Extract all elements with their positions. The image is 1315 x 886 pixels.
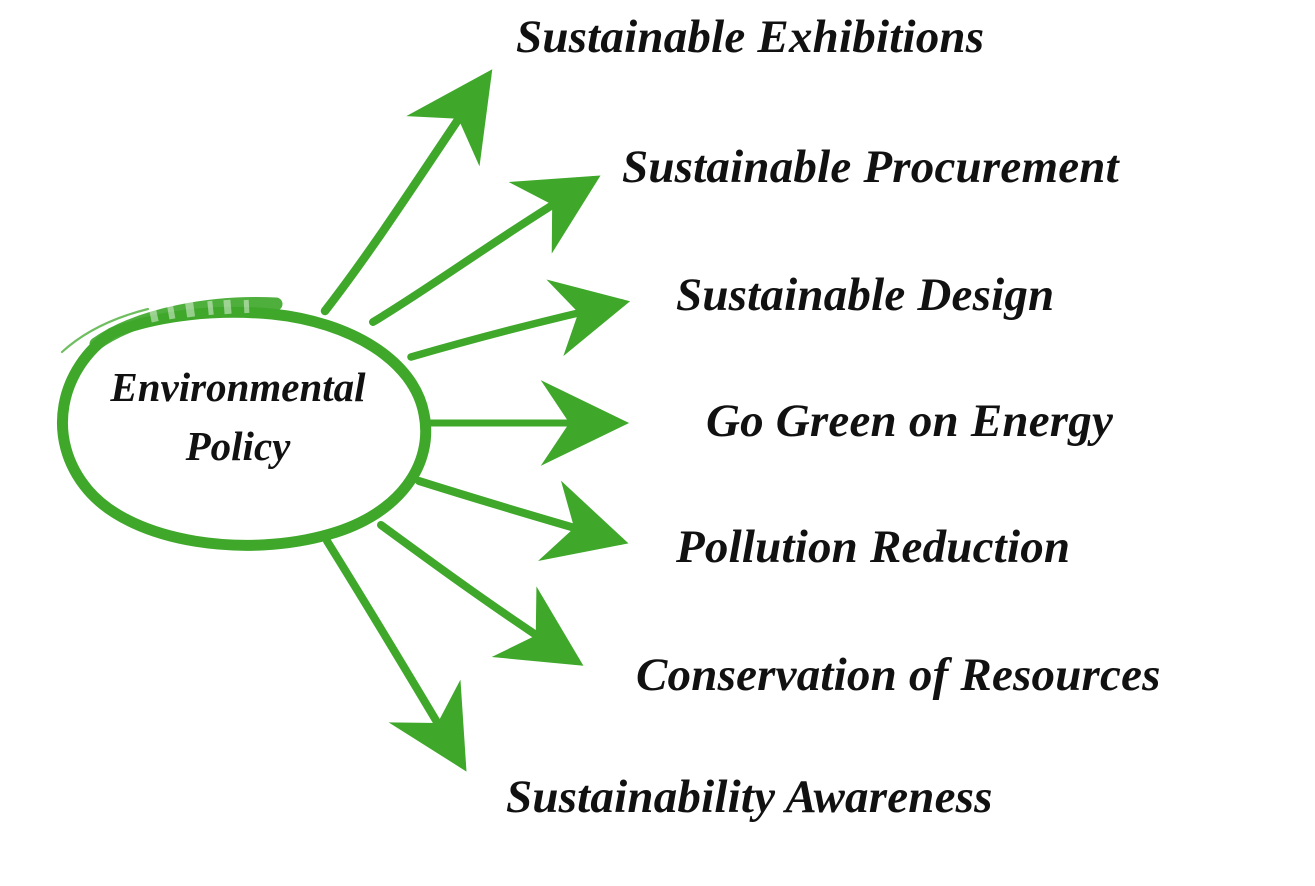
branch-label-go-green-on-energy: Go Green on Energy — [706, 398, 1113, 445]
branch-label-pollution-reduction: Pollution Reduction — [676, 524, 1070, 571]
branch-label-sustainable-design: Sustainable Design — [676, 272, 1054, 319]
connector-sustainable-exhibitions — [325, 77, 487, 311]
branch-label-sustainable-exhibitions: Sustainable Exhibitions — [516, 14, 984, 61]
center-node-line-2: Policy — [48, 417, 428, 476]
center-node-label: Environmental Policy — [48, 358, 428, 477]
center-node-line-1: Environmental — [48, 358, 428, 417]
diagram-canvas: Environmental Policy Sustainable Exhibit… — [0, 0, 1315, 886]
connector-sustainability-awareness — [327, 541, 462, 764]
connector-sustainable-design — [411, 303, 622, 357]
connector-conservation-of-resources — [381, 525, 576, 661]
connector-pollution-reduction — [419, 481, 620, 541]
branch-label-conservation-of-resources: Conservation of Resources — [636, 652, 1161, 699]
branch-label-sustainability-awareness: Sustainability Awareness — [506, 774, 993, 821]
branch-label-sustainable-procurement: Sustainable Procurement — [622, 144, 1119, 191]
